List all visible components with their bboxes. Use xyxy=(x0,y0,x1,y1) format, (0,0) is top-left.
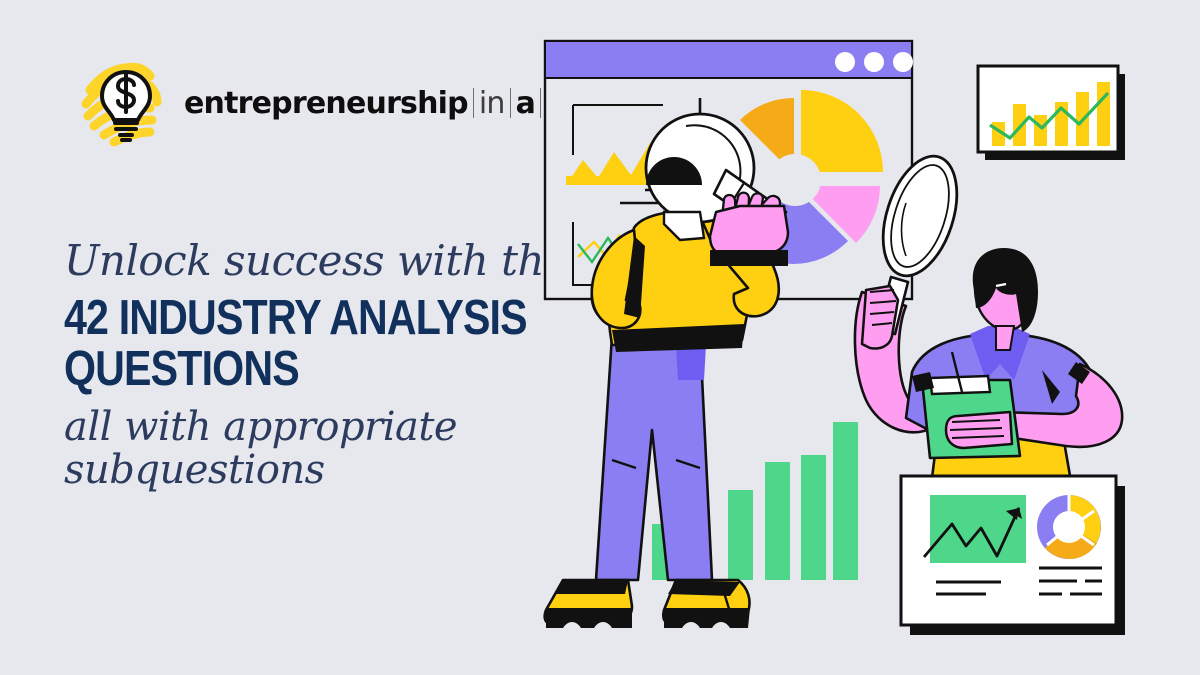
headline-line-2: 42 INDUSTRY ANALYSIS xyxy=(64,293,484,343)
headline-line-3: QUESTIONS xyxy=(64,344,484,394)
report-card xyxy=(901,476,1125,635)
character-man-with-magnifier xyxy=(545,98,788,628)
window-dot-3 xyxy=(893,52,913,72)
lightbulb-dollar-icon xyxy=(78,56,174,148)
headline-condensed-group: 42 INDUSTRY ANALYSIS QUESTIONS xyxy=(64,293,564,394)
wordmark-divider-2 xyxy=(510,88,511,118)
headline-script-group: all with appropriate subquestions xyxy=(64,406,564,492)
report-line-chart xyxy=(924,495,1026,563)
woman-hand-left xyxy=(862,286,898,349)
brand-logo[interactable]: entrepreneurship in a box xyxy=(78,56,598,148)
magnifying-glass-icon xyxy=(714,170,786,234)
woman-hand-right xyxy=(946,412,1012,448)
wordmark-in: in xyxy=(479,86,505,121)
magnifying-glass-icon-woman xyxy=(869,147,970,334)
character-woman-with-clipboard xyxy=(855,147,1122,510)
poster-canvas: entrepreneurship in a box Unlock success… xyxy=(0,0,1200,675)
wordmark-box: box xyxy=(546,86,598,121)
dashboard-pie-chart xyxy=(738,90,883,264)
mini-growth-card xyxy=(978,66,1125,160)
brand-wordmark: entrepreneurship in a box xyxy=(184,83,598,121)
window-dot-1 xyxy=(835,52,855,72)
headline-line-1: Unlock success with these xyxy=(64,238,564,283)
clipboard-icon xyxy=(912,352,1020,458)
headline-line-4: all with appropriate xyxy=(64,406,564,449)
floor-bar-chart xyxy=(652,422,858,580)
window-dot-2 xyxy=(864,52,884,72)
wordmark-divider-1 xyxy=(473,88,474,118)
headline-block: Unlock success with these 42 INDUSTRY AN… xyxy=(64,238,564,493)
report-donut-chart xyxy=(1037,495,1101,559)
mini-card-bars xyxy=(992,82,1110,146)
headline-line-5: subquestions xyxy=(64,449,564,492)
report-text-rules xyxy=(936,568,1102,594)
wordmark-main: entrepreneurship xyxy=(184,86,468,121)
man-hand xyxy=(710,193,788,266)
wordmark-a: a xyxy=(516,86,535,121)
wordmark-divider-3 xyxy=(540,88,541,118)
